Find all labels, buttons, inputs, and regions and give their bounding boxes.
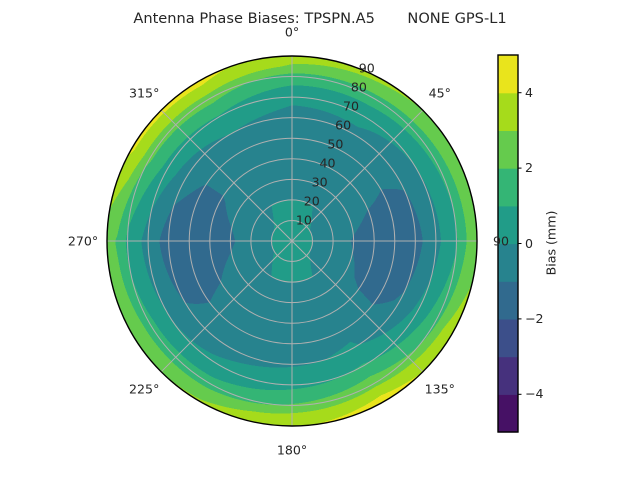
colorbar-axis-label: Bias (mm) <box>544 211 559 276</box>
radial-tick-label-30: 30 <box>312 175 328 190</box>
azimuth-tick-label-225: 225° <box>129 381 159 396</box>
azimuth-tick-label-315: 315° <box>129 86 159 101</box>
colorbar-tick-label-2: 0 <box>525 236 533 251</box>
azimuth-tick-label-90: 90 <box>493 234 509 249</box>
colorbar-tick-label-3: −2 <box>525 311 544 326</box>
radial-tick-label-70: 70 <box>343 99 359 114</box>
radial-tick-label-60: 60 <box>335 118 351 133</box>
azimuth-tick-label-45: 45° <box>429 86 451 101</box>
azimuth-tick-label-0: 0° <box>285 25 299 40</box>
azimuth-tick-label-270: 270° <box>68 234 98 249</box>
azimuth-tick-label-180: 180° <box>277 443 307 458</box>
azimuth-tick-label-135: 135° <box>425 381 455 396</box>
radial-tick-label-50: 50 <box>327 137 343 152</box>
polar-gridlines <box>107 56 477 426</box>
radial-tick-label-10: 10 <box>296 213 312 228</box>
figure-canvas: Antenna Phase Biases: TPSPN.A5 NONE GPS-… <box>0 0 640 480</box>
colorbar-tick-label-0: 4 <box>525 85 533 100</box>
colorbar-tick-label-4: −4 <box>525 386 544 401</box>
radial-tick-label-80: 80 <box>351 80 367 95</box>
radial-tick-label-40: 40 <box>319 156 335 171</box>
radial-tick-label-90: 90 <box>359 61 375 76</box>
radial-tick-label-20: 20 <box>304 194 320 209</box>
colorbar-tick-label-1: 2 <box>525 160 533 175</box>
